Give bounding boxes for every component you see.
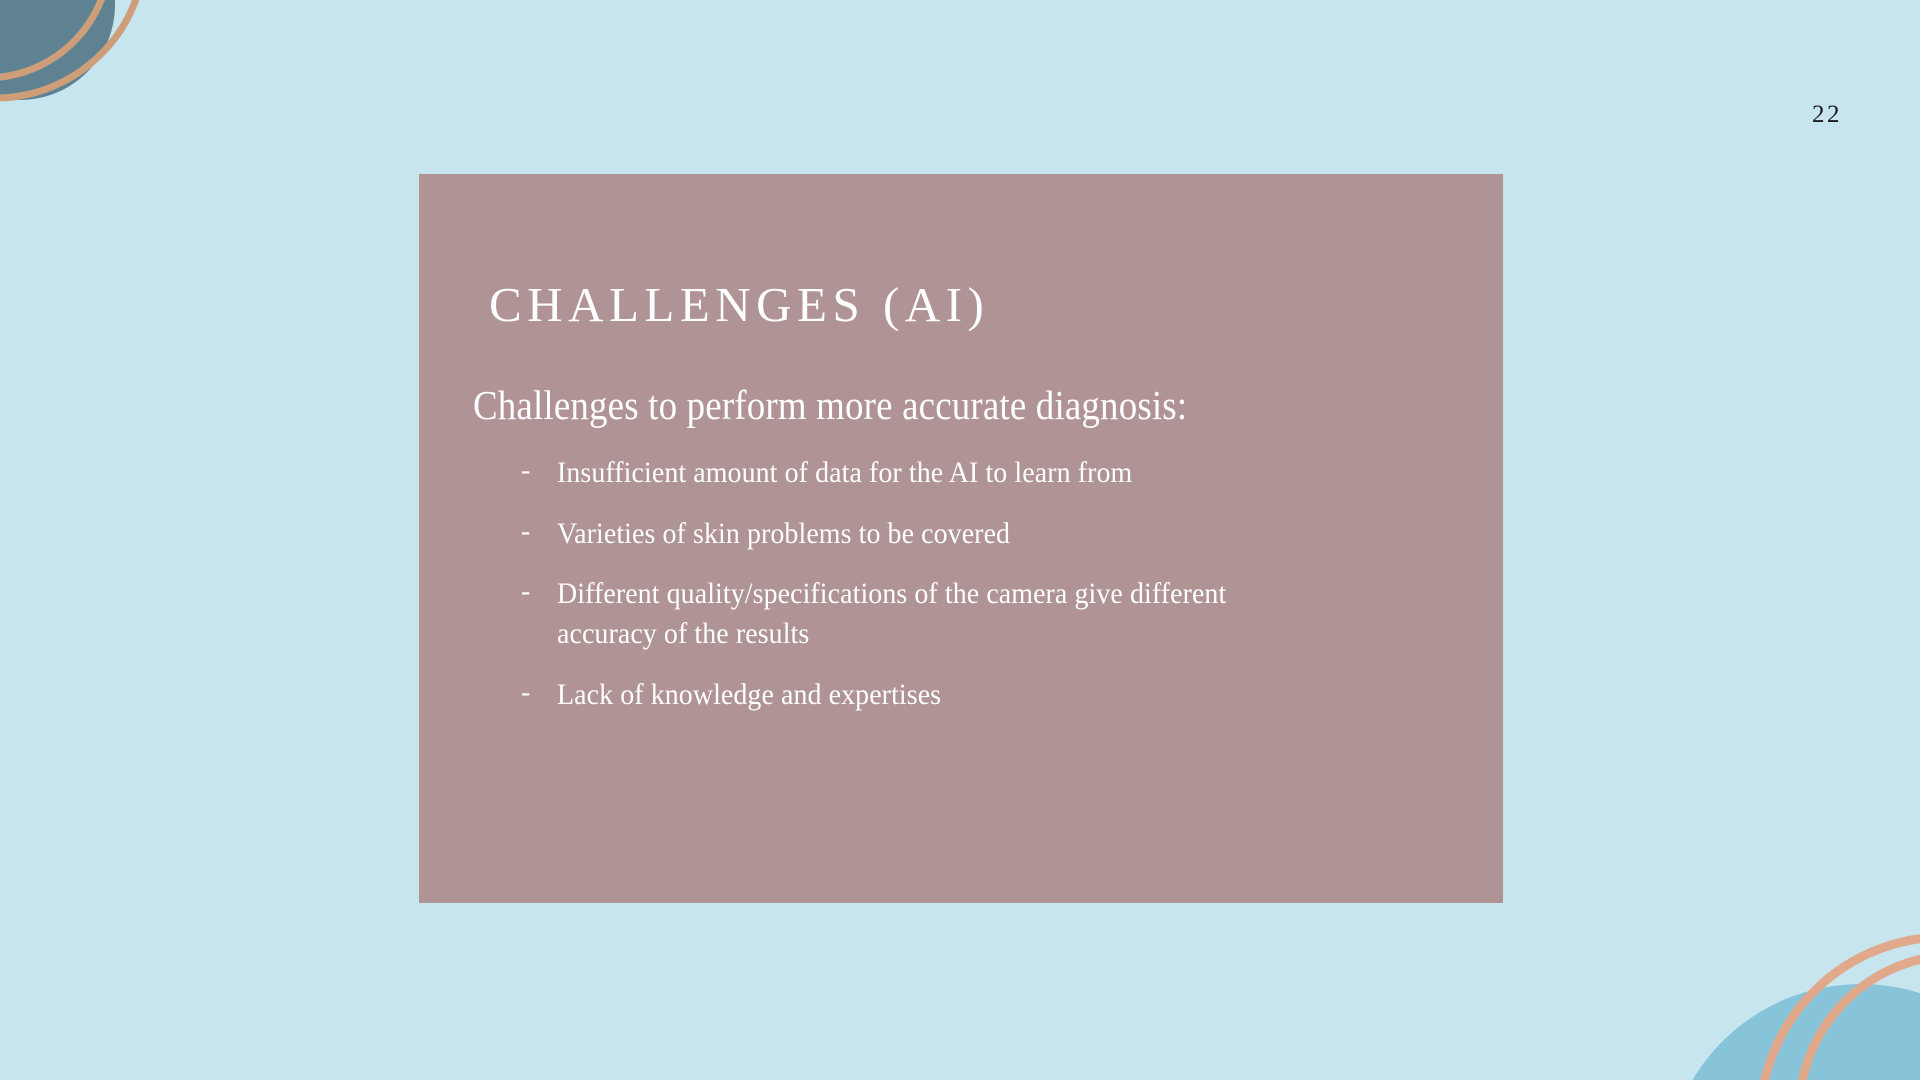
slide-body: Challenges to perform more accurate diag… (473, 380, 1473, 714)
bottom-right-circle (1665, 984, 1920, 1080)
list-item: - Varieties of skin problems to be cover… (473, 514, 1473, 554)
slide-title: CHALLENGES (AI) (489, 278, 989, 332)
top-left-circle (0, 0, 115, 100)
list-item-label: Insufficient amount of data for the AI t… (557, 453, 1264, 493)
page-number: 22 (1812, 102, 1842, 127)
list-item-label: Varieties of skin problems to be covered (557, 514, 1264, 554)
list-item: - Insufficient amount of data for the AI… (473, 453, 1473, 493)
bullet-dash-icon: - (473, 574, 557, 611)
top-left-outer-ring-icon (0, 0, 145, 98)
bullet-dash-icon: - (473, 675, 557, 712)
bullet-dash-icon: - (473, 453, 557, 490)
list-item-label: Different quality/specifications of the … (557, 574, 1264, 653)
presentation-slide: 22 CHALLENGES (AI) Challenges to perform… (0, 0, 1920, 1080)
slide-subtitle: Challenges to perform more accurate diag… (473, 380, 1373, 431)
bullet-list: - Insufficient amount of data for the AI… (473, 453, 1473, 714)
bottom-right-inner-ring-icon (1799, 955, 1920, 1080)
list-item: - Different quality/specifications of th… (473, 574, 1473, 653)
list-item-label: Lack of knowledge and expertises (557, 675, 1264, 715)
content-card: CHALLENGES (AI) Challenges to perform mo… (419, 174, 1503, 903)
bullet-dash-icon: - (473, 514, 557, 551)
bottom-right-outer-ring-icon (1760, 937, 1920, 1080)
list-item: - Lack of knowledge and expertises (473, 675, 1473, 715)
top-left-inner-ring-icon (0, 0, 110, 78)
